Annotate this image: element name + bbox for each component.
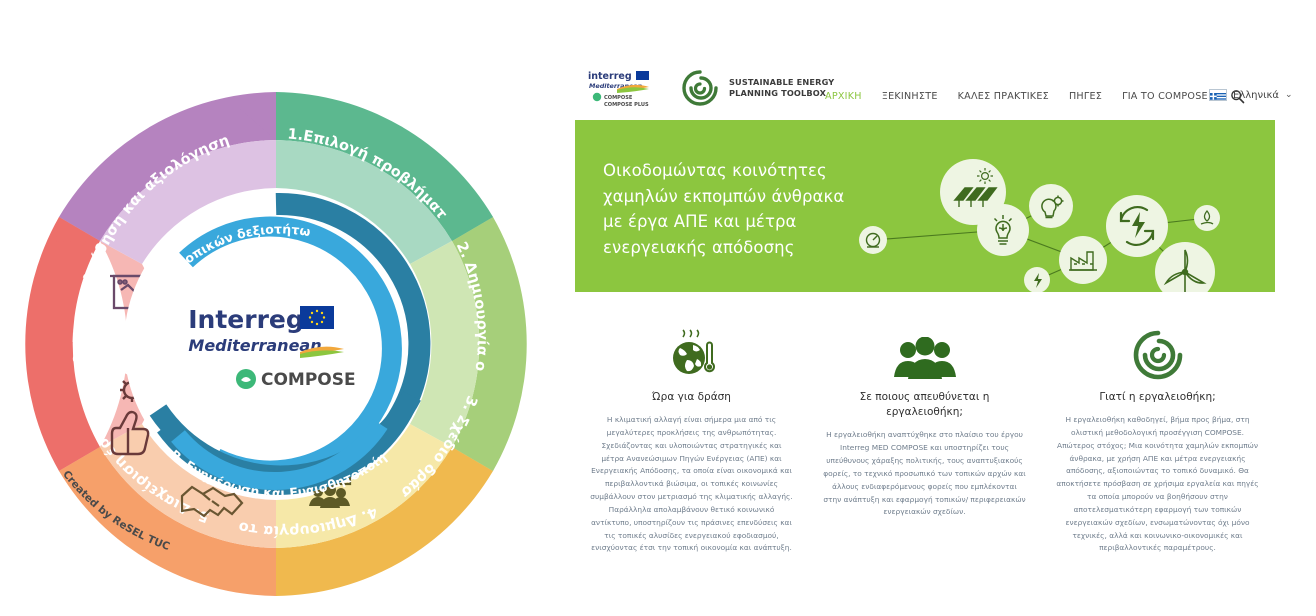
hero-title: Οικοδομώντας κοινότητες χαμηλών εκπομπών…	[603, 158, 844, 260]
compose-mark-icon-small	[593, 93, 601, 101]
node-recycle-energy	[1106, 195, 1168, 257]
feature-title-2: Σε ποιους απευθύνεται η εργαλειοθήκη;	[822, 390, 1027, 420]
interreg-logo-tag1: COMPOSE	[604, 95, 633, 101]
language-switcher[interactable]: Ελληνικά ⌄	[1209, 89, 1293, 101]
globe-thermometer-icon	[589, 323, 794, 381]
toolbox-logo-line2: PLANNING TOOLBOX	[729, 88, 834, 99]
node-leaf-drop	[1194, 205, 1220, 231]
feature-columns: Ώρα για δράση Η κλιματική αλλαγή είναι σ…	[575, 323, 1275, 555]
interreg-med-logo: interreg Mediterranean COMPOSE COMPOSE P…	[587, 68, 665, 112]
feature-column-audience: Σε ποιους απευθύνεται η εργαλειοθήκη; Η …	[808, 323, 1041, 555]
nav-item-resources[interactable]: ΠΗΓΕΣ	[1069, 91, 1102, 102]
feature-title-3: Γιατί η εργαλειοθήκη;	[1055, 390, 1260, 405]
greece-flag-icon	[1209, 89, 1227, 101]
nav-item-get-started[interactable]: ΞΕΚΙΝΗΣΤΕ	[882, 91, 938, 102]
eu-flag-icon-small	[636, 71, 649, 80]
main-navigation: ΑΡΧΙΚΗ ΞΕΚΙΝΗΣΤΕ ΚΑΛΕΣ ΠΡΑΚΤΙΚΕΣ ΠΗΓΕΣ Γ…	[825, 89, 1245, 104]
site-header: interreg Mediterranean COMPOSE COMPOSE P…	[575, 60, 1275, 120]
logo-interreg-text: Interreg	[188, 305, 304, 334]
feature-column-time-for-action: Ώρα για δράση Η κλιματική αλλαγή είναι σ…	[575, 323, 808, 555]
toolbox-logo-text: SUSTAINABLE ENERGY PLANNING TOOLBOX	[729, 77, 834, 99]
hero-title-line-2: χαμηλών εκπομπών άνθρακα	[603, 184, 844, 210]
feature-column-why-toolbox: Γιατί η εργαλειοθήκη; Η εργαλειοθήκη καθ…	[1041, 323, 1274, 555]
node-lightbulb-plant	[977, 204, 1029, 256]
feature-body-1: Η κλιματική αλλαγή είναι σήμερα μια από …	[589, 414, 794, 555]
hero-title-line-4: ενεργειακής απόδοσης	[603, 235, 844, 261]
spiral-swirl-icon	[680, 68, 720, 108]
spiral-swirl-icon	[1055, 323, 1260, 381]
interreg-logo-title: interreg	[588, 71, 632, 82]
node-lightning	[1024, 267, 1050, 292]
cycle-wheel-panel: 1.Επιλογή προβλήματος 2. Δημιουργία ομάδ…	[0, 0, 575, 616]
language-label: Ελληνικά	[1233, 90, 1279, 101]
feature-body-3: Η εργαλειοθήκη καθοδηγεί, βήμα προς βήμα…	[1055, 414, 1260, 555]
hero-title-line-3: με έργα ΑΠΕ και μέτρα	[603, 209, 844, 235]
people-group-icon	[822, 323, 1027, 381]
eu-flag-icon	[300, 306, 334, 329]
website-screenshot: interreg Mediterranean COMPOSE COMPOSE P…	[575, 60, 1275, 616]
interreg-logo-tag2: COMPOSE PLUS	[604, 102, 649, 108]
nav-item-good-practices[interactable]: ΚΑΛΕΣ ΠΡΑΚΤΙΚΕΣ	[958, 91, 1049, 102]
chevron-down-icon: ⌄	[1285, 90, 1293, 100]
node-lightbulb-gear	[1029, 184, 1073, 228]
toolbox-logo[interactable]: SUSTAINABLE ENERGY PLANNING TOOLBOX	[680, 68, 834, 108]
toolbox-logo-line1: SUSTAINABLE ENERGY	[729, 77, 834, 88]
node-factory	[1059, 236, 1107, 284]
hero-title-line-1: Οικοδομώντας κοινότητες	[603, 158, 844, 184]
cycle-wheel-diagram: 1.Επιλογή προβλήματος 2. Δημιουργία ομάδ…	[8, 80, 568, 600]
nav-item-about-compose[interactable]: ΓΙΑ ΤΟ COMPOSE	[1122, 91, 1208, 102]
nav-item-home[interactable]: ΑΡΧΙΚΗ	[825, 91, 862, 102]
node-wind-turbine	[1155, 242, 1215, 292]
hero-banner: Οικοδομώντας κοινότητες χαμηλών εκπομπών…	[575, 120, 1275, 292]
feature-title-1: Ώρα για δράση	[589, 390, 794, 405]
node-gauge	[859, 226, 887, 254]
energy-network-nodes-graphic	[855, 120, 1275, 292]
feature-body-2: Η εργαλειοθήκη αναπτύχθηκε στο πλαίσιο τ…	[822, 429, 1027, 519]
logo-compose-text: COMPOSE	[261, 370, 356, 390]
